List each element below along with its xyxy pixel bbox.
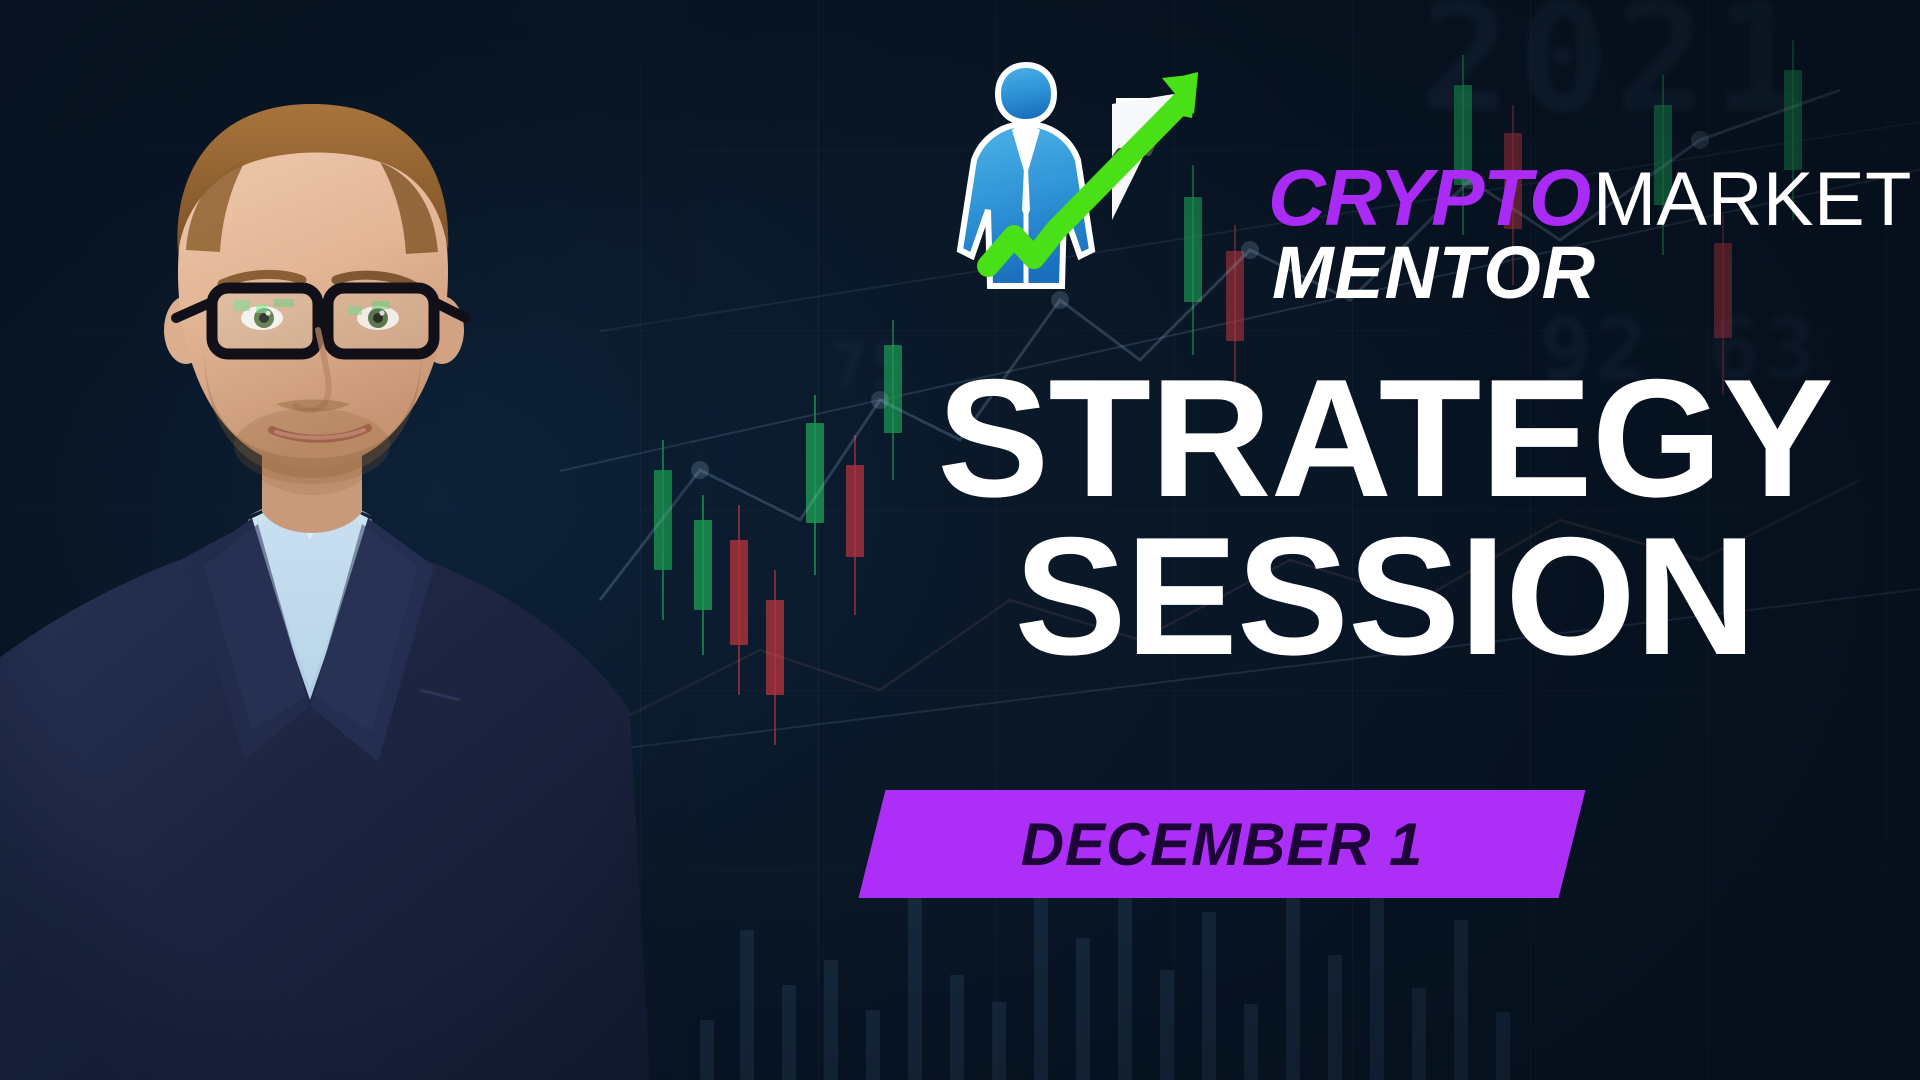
presenter-portrait <box>0 0 690 1080</box>
date-banner-text-wrap: DECEMBER 1 <box>872 790 1572 898</box>
headline-block: STRATEGY SESSION <box>880 365 1890 671</box>
headline-line-1: STRATEGY <box>880 365 1890 513</box>
logo-word-crypto: CRYPTO <box>1268 160 1590 236</box>
businessman-growth-arrow-icon <box>930 60 1300 290</box>
brand-logo: CRYPTO MARKET MENTOR <box>930 60 1912 315</box>
logo-word-market: MARKET <box>1593 164 1912 236</box>
date-banner-label: DECEMBER 1 <box>1021 810 1423 879</box>
headline-line-2: SESSION <box>880 523 1890 671</box>
logo-word-mentor: MENTOR <box>1272 230 1912 315</box>
promo-poster: 2021 92 63 75 <box>0 0 1920 1080</box>
